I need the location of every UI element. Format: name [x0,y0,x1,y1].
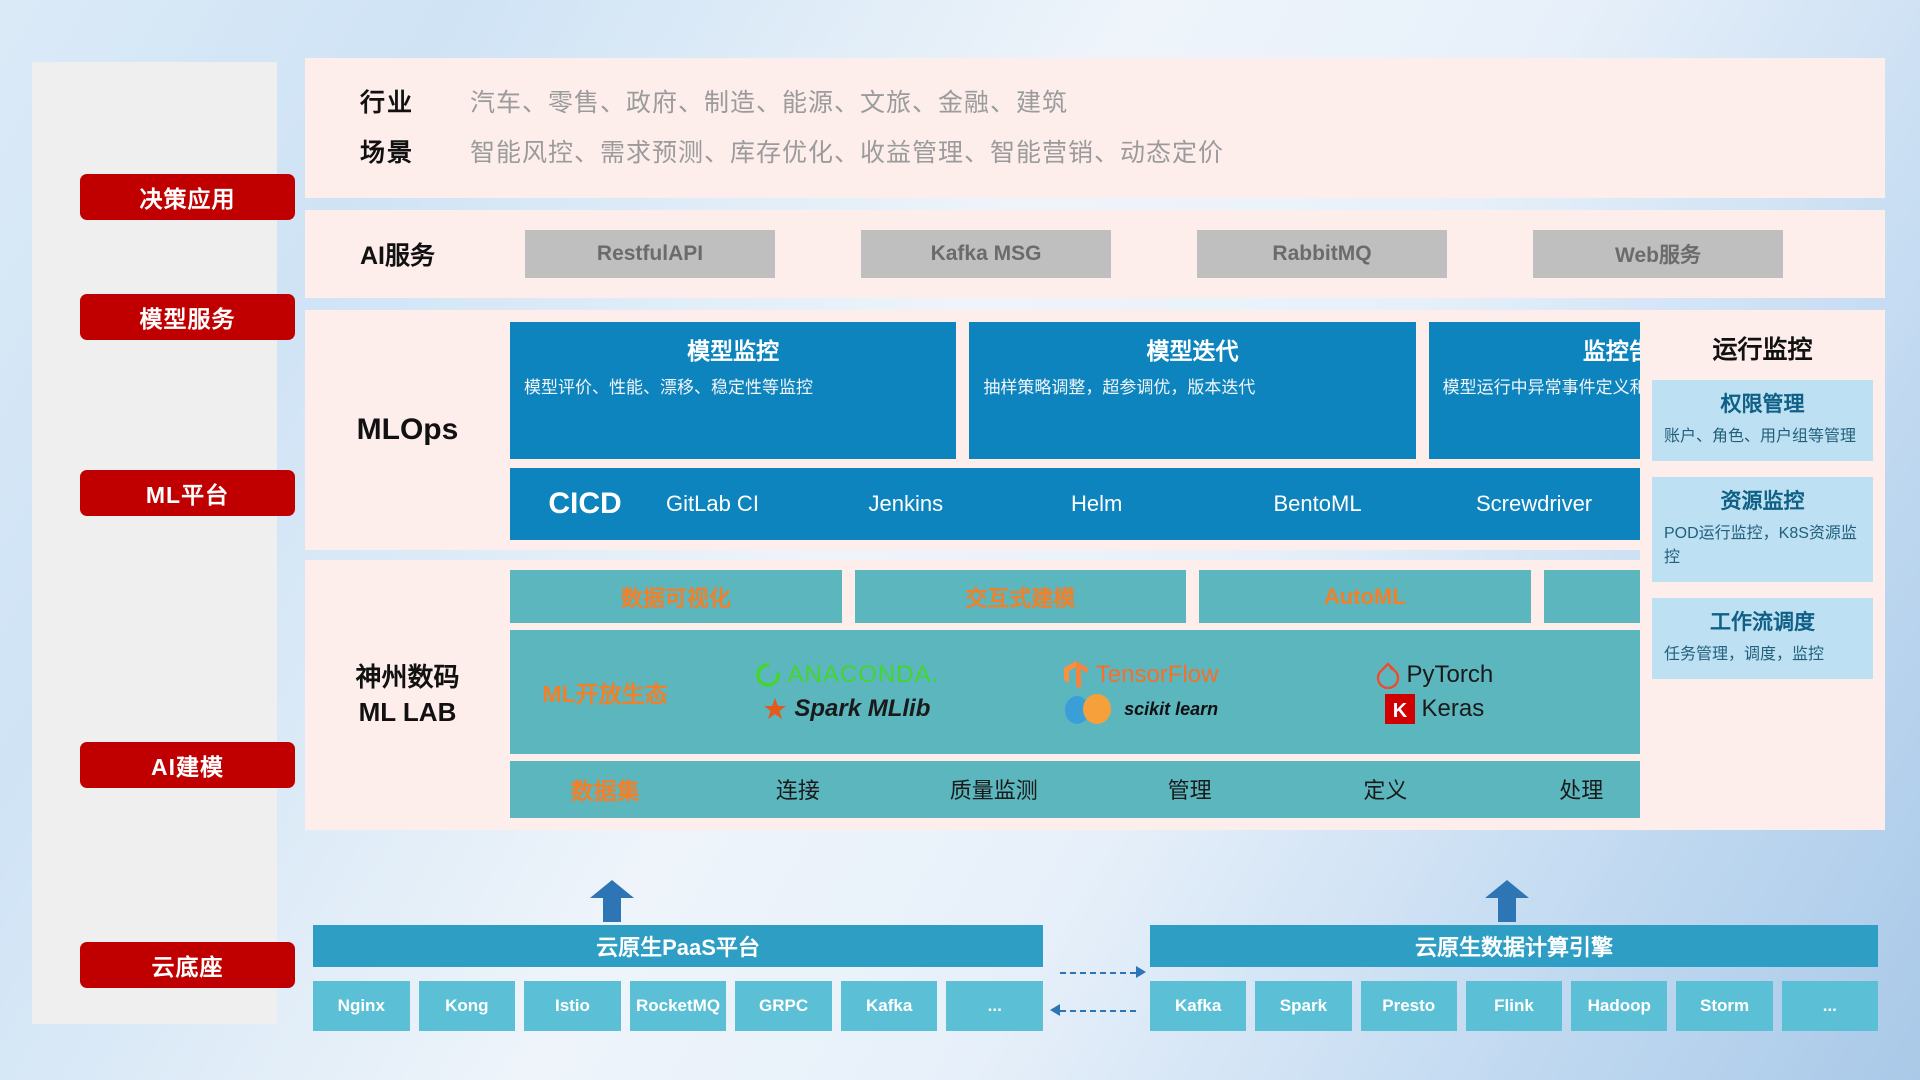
tool-automl[interactable]: AutoML [1199,570,1531,623]
paas-chip-more[interactable]: ... [946,981,1043,1031]
cloud-foundation: 云原生PaaS平台 Nginx Kong Istio RocketMQ GRPC… [305,880,1885,1045]
paas-chip-kong[interactable]: Kong [419,981,516,1031]
rail-label: ML平台 [146,476,229,510]
paas-chip-kafka[interactable]: Kafka [841,981,938,1031]
engine-chip-more[interactable]: ... [1782,981,1878,1031]
dataset-item-quality-monitoring[interactable]: 质量监测 [896,773,1092,805]
cicd-item-bentoml[interactable]: BentoML [1268,491,1471,516]
apps-row-value: 智能风控、需求预测、库存优化、收益管理、智能营销、动态定价 [470,133,1224,169]
arrowhead-left-icon [1050,1004,1060,1016]
cloud-data-engine-column: 云原生数据计算引擎 Kafka Spark Presto Flink Hadoo… [1150,925,1878,1031]
cloud-paas-column: 云原生PaaS平台 Nginx Kong Istio RocketMQ GRPC… [313,925,1043,1031]
monitoring-card-title: 资源监控 [1664,485,1861,515]
mlops-card-title: 模型迭代 [983,332,1401,366]
svg-text:K: K [1392,700,1407,722]
ai-service-item-restfulapi[interactable]: RestfulAPI [525,230,775,278]
logo-tensorflow: TensorFlow [994,660,1288,690]
ml-lab-label-line2: ML LAB [359,695,457,730]
dashed-line-forward [1060,972,1136,974]
anaconda-icon [755,662,781,688]
keras-wordmark: Keras [1422,695,1485,723]
logo-scikit-learn: scikit learn [994,692,1288,726]
pytorch-icon [1376,661,1400,689]
mlops-card-desc: 抽样策略调整，超参调优，版本迭代 [983,376,1401,401]
monitoring-card-desc: POD运行监控，K8S资源监控 [1664,522,1861,570]
ml-ecosystem-label: ML开放生态 [510,675,700,709]
monitoring-card-permission[interactable]: 权限管理 账户、角色、用户组等管理 [1652,380,1873,461]
monitoring-card-title: 权限管理 [1664,388,1861,418]
dataset-item-management[interactable]: 管理 [1092,773,1288,805]
monitoring-card-workflow[interactable]: 工作流调度 任务管理，调度，监控 [1652,598,1873,679]
tensorflow-icon [1063,660,1089,690]
dataset-item-definition[interactable]: 定义 [1287,773,1483,805]
scikit-learn-icon [1063,692,1117,726]
ai-service-item-web-service[interactable]: Web服务 [1533,230,1783,278]
ml-lab-label: 神州数码 ML LAB [305,560,510,830]
band-ai-service: AI服务 RestfulAPI Kafka MSG RabbitMQ Web服务 [305,210,1885,298]
rail-item-ai-modeling[interactable]: AI建模 [80,742,295,788]
cicd-item-gitlab-ci[interactable]: GitLab CI [660,491,863,516]
rail-item-cloud-base[interactable]: 云底座 [80,942,295,988]
rail-label: 决策应用 [140,180,236,214]
cicd-item-helm[interactable]: Helm [1065,491,1268,516]
anaconda-wordmark: ANACONDA. [788,661,940,689]
mlops-card-title: 模型监控 [524,332,942,366]
ai-service-items: RestfulAPI Kafka MSG RabbitMQ Web服务 [525,230,1783,278]
mlops-card-model-iteration[interactable]: 模型迭代 抽样策略调整，超参调优，版本迭代 [969,322,1415,459]
spark-wordmark: Spark MLlib [794,695,930,723]
monitoring-card-desc: 任务管理，调度，监控 [1664,643,1861,667]
rail-item-model-service[interactable]: 模型服务 [80,294,295,340]
mlops-card-model-monitoring[interactable]: 模型监控 模型评价、性能、漂移、稳定性等监控 [510,322,956,459]
apps-row-industry: 行业 汽车、零售、政府、制造、能源、文旅、金融、建筑 [305,76,1885,126]
monitoring-card-desc: 账户、角色、用户组等管理 [1664,425,1861,449]
band-decision-applications: 行业 汽车、零售、政府、制造、能源、文旅、金融、建筑 场景 智能风控、需求预测、… [305,58,1885,198]
dashed-line-back [1060,1010,1136,1012]
engine-chip-spark[interactable]: Spark [1255,981,1351,1031]
mlops-label: MLOps [305,310,510,550]
mlops-card-desc: 模型评价、性能、漂移、稳定性等监控 [524,376,942,401]
bidirectional-link [1050,948,1146,1028]
apps-row-scenario: 场景 智能风控、需求预测、库存优化、收益管理、智能营销、动态定价 [305,126,1885,176]
cloud-data-engine-title: 云原生数据计算引擎 [1150,925,1878,967]
rail-label: 模型服务 [140,300,236,334]
engine-chip-storm[interactable]: Storm [1676,981,1772,1031]
rail-label: AI建模 [151,748,224,782]
rail-item-decision-app[interactable]: 决策应用 [80,174,295,220]
monitoring-card-title: 工作流调度 [1664,606,1861,636]
scikit-learn-wordmark: scikit learn [1124,699,1218,720]
logo-anaconda: ANACONDA. [700,661,994,689]
paas-chip-nginx[interactable]: Nginx [313,981,410,1031]
logo-keras: K Keras [1288,694,1582,724]
ai-service-item-kafka-msg[interactable]: Kafka MSG [861,230,1111,278]
paas-chip-rocketmq[interactable]: RocketMQ [630,981,727,1031]
tool-data-visualization[interactable]: 数据可视化 [510,570,842,623]
runtime-monitoring-panel: 运行监控 权限管理 账户、角色、用户组等管理 资源监控 POD运行监控，K8S资… [1640,310,1885,830]
ai-service-item-rabbitmq[interactable]: RabbitMQ [1197,230,1447,278]
runtime-monitoring-title: 运行监控 [1652,330,1873,366]
engine-chip-hadoop[interactable]: Hadoop [1571,981,1667,1031]
pytorch-wordmark: PyTorch [1407,661,1494,689]
apps-row-key: 场景 [360,133,470,169]
keras-icon: K [1385,694,1415,724]
ai-service-label: AI服务 [360,236,525,272]
up-arrow-right-icon [1485,880,1529,922]
paas-chip-grpc[interactable]: GRPC [735,981,832,1031]
cicd-item-jenkins[interactable]: Jenkins [863,491,1066,516]
engine-chip-flink[interactable]: Flink [1466,981,1562,1031]
left-rail: 决策应用 模型服务 ML平台 AI建模 [32,62,277,1024]
cicd-title: CICD [510,487,660,521]
spark-star-icon [763,697,787,721]
arrowhead-right-icon [1136,966,1146,978]
dataset-label: 数据集 [510,772,700,806]
ml-lab-label-line1: 神州数码 [355,660,459,695]
apps-row-value: 汽车、零售、政府、制造、能源、文旅、金融、建筑 [470,83,1068,119]
engine-chip-kafka[interactable]: Kafka [1150,981,1246,1031]
engine-chip-presto[interactable]: Presto [1361,981,1457,1031]
paas-chip-istio[interactable]: Istio [524,981,621,1031]
rail-item-ml-platform[interactable]: ML平台 [80,470,295,516]
up-arrow-left-icon [590,880,634,922]
tool-interactive-modeling[interactable]: 交互式建模 [855,570,1187,623]
logo-spark-mllib: Spark MLlib [700,695,994,723]
dataset-item-connect[interactable]: 连接 [700,773,896,805]
rail-label: 云底座 [152,948,224,982]
monitoring-card-resource[interactable]: 资源监控 POD运行监控，K8S资源监控 [1652,477,1873,582]
logo-pytorch: PyTorch [1288,661,1582,689]
tensorflow-wordmark: TensorFlow [1096,661,1219,689]
cloud-paas-title: 云原生PaaS平台 [313,925,1043,967]
apps-row-key: 行业 [360,83,470,119]
architecture-diagram: 决策应用 模型服务 ML平台 AI建模 云底座 行业 汽车、零售、政府、制造、能… [0,0,1920,1080]
